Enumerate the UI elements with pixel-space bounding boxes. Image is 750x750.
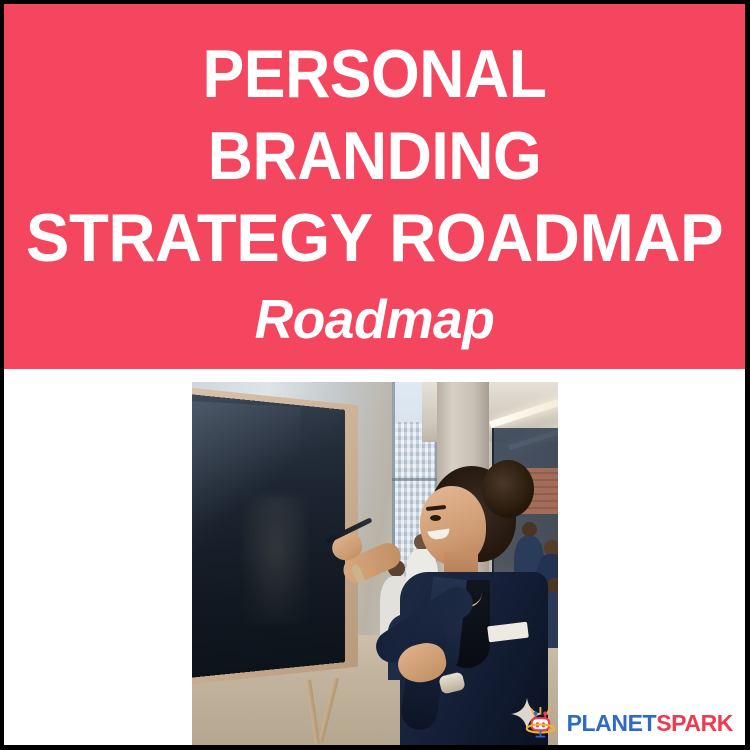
title-line-2: BRANDING [34,122,716,190]
presenter-eye [430,515,441,521]
planetspark-wordmark: PLANETSPARK [567,712,733,735]
subtitle: Roadmap [15,292,734,347]
logo-word-planet: PLANET [567,710,657,736]
hero-photo [192,382,558,745]
logo-word-spark: SPARK [656,710,733,736]
slide-canvas: PERSONAL BRANDING STRATEGY ROADMAP Roadm… [0,0,750,750]
title-banner: PERSONAL BRANDING STRATEGY ROADMAP Roadm… [4,4,745,369]
presenter-hair-bun [482,460,534,518]
screen-reflection [244,494,307,624]
window-mullion [392,478,439,481]
planetspark-logo[interactable]: PLANETSPARK [524,707,733,739]
office-scene [192,382,558,745]
planetspark-robot-icon [524,707,560,739]
title-line-1: PERSONAL [34,40,716,108]
content-area: PLANETSPARK [4,369,745,745]
title-line-3: STRATEGY ROADMAP [19,204,730,272]
background-person-head [522,522,537,537]
